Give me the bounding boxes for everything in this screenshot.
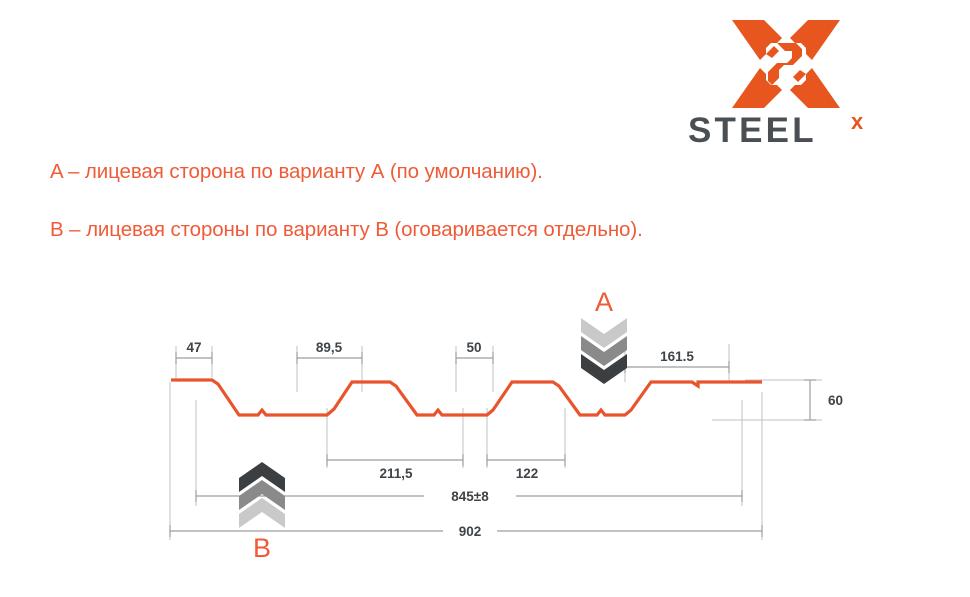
steelx-wordmark: STEEL x	[688, 110, 893, 150]
steelx-x-logo-icon	[730, 16, 842, 112]
marker-a-label: A	[595, 287, 613, 317]
bottom-dimension-labels: 211,5 122 845±8 902	[379, 466, 538, 539]
dimension-label-60: 60	[828, 393, 843, 408]
dimension-label-50: 50	[466, 340, 481, 355]
dimension-label-89-5: 89,5	[316, 340, 343, 355]
dimension-label-902: 902	[459, 524, 482, 539]
profile-technical-drawing: 47 89,5 50 161.5 60	[0, 272, 970, 562]
note-variant-b: B – лицевая стороны по варианту B (огова…	[50, 218, 643, 242]
wordmark-superscript-x: x	[851, 110, 864, 134]
dimension-label-47: 47	[186, 340, 201, 355]
dimension-label-161-5: 161.5	[660, 349, 694, 364]
corrugated-profile-line	[171, 380, 762, 415]
wordmark-steel-text: STEEL	[688, 111, 817, 150]
marker-b-label: B	[253, 533, 271, 562]
page-canvas: STEEL x A – лицевая сторона по варианту …	[0, 0, 970, 597]
marker-b-chevrons	[239, 462, 285, 528]
height-dimension-line	[804, 380, 816, 420]
marker-a-chevrons	[581, 318, 627, 384]
dimension-label-845: 845±8	[451, 489, 489, 504]
dimension-label-122: 122	[516, 466, 539, 481]
marker-b: B	[239, 462, 285, 562]
steelx-logo: STEEL x	[688, 16, 893, 144]
note-variant-a: A – лицевая сторона по варианту А (по ум…	[50, 160, 543, 184]
marker-a: A	[581, 287, 627, 384]
top-dimension-lines	[176, 352, 729, 373]
dimension-label-211-5: 211,5	[379, 466, 413, 481]
